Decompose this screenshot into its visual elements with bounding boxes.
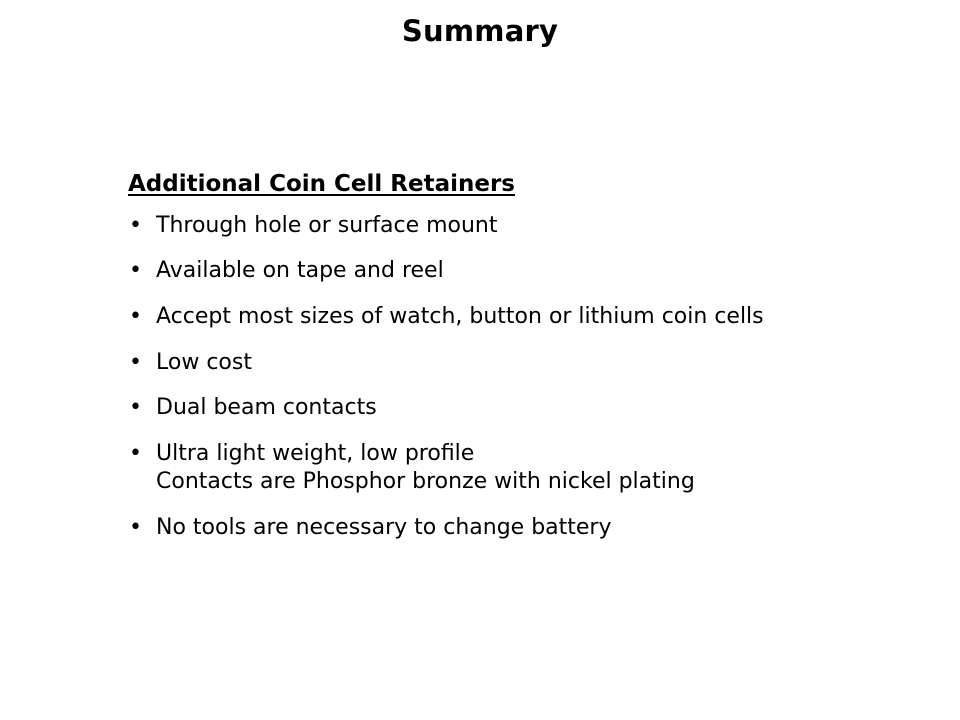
list-item: • Dual beam contacts [128,394,918,423]
list-item: • Ultra light weight, low profile Contac… [128,440,918,497]
list-item-label: No tools are necessary to change battery [156,514,918,543]
slide-body: Additional Coin Cell Retainers • Through… [128,170,918,543]
bullet-icon: • [129,212,142,241]
list-item: • Low cost [128,349,918,378]
bullet-icon: • [129,349,142,378]
list-item-label: Ultra light weight, low profile [156,440,918,469]
list-item-label: Through hole or surface mount [156,212,918,241]
bullet-icon: • [129,514,142,543]
bullet-list: • Through hole or surface mount • Availa… [128,212,918,543]
bullet-icon: • [129,394,142,423]
section-heading: Additional Coin Cell Retainers [128,170,918,199]
bullet-icon: • [129,303,142,332]
list-item: • Accept most sizes of watch, button or … [128,303,918,332]
list-item: • Available on tape and reel [128,257,918,286]
list-item-subline: Contacts are Phosphor bronze with nickel… [156,468,918,497]
list-item: • Through hole or surface mount [128,212,918,241]
list-item-label: Available on tape and reel [156,257,918,286]
list-item-label: Dual beam contacts [156,394,918,423]
bullet-icon: • [129,440,142,469]
slide: Summary Additional Coin Cell Retainers •… [0,0,960,720]
bullet-icon: • [129,257,142,286]
list-item: • No tools are necessary to change batte… [128,514,918,543]
page-title: Summary [0,14,960,49]
list-item-label: Low cost [156,349,918,378]
list-item-label: Accept most sizes of watch, button or li… [156,303,918,332]
